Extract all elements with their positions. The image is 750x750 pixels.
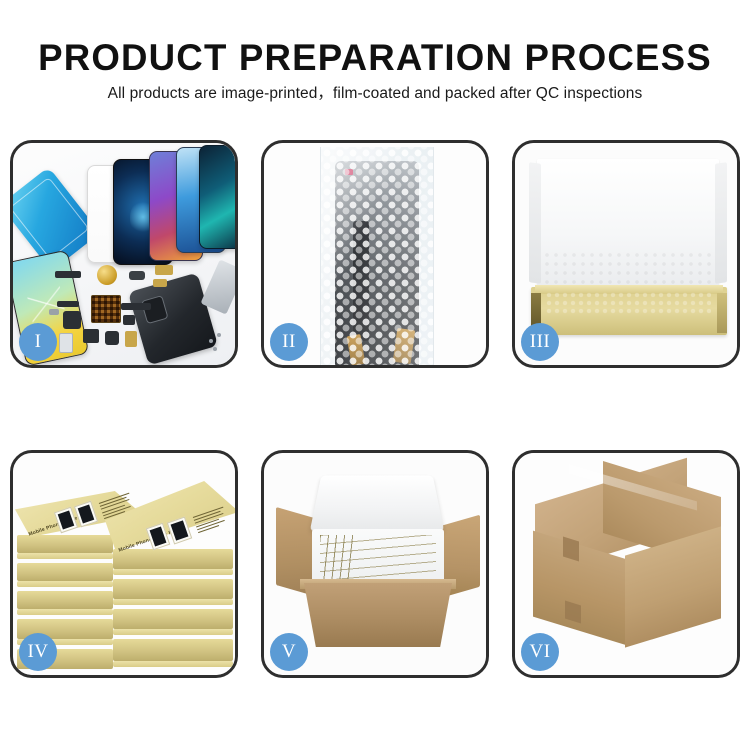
stacked-box (113, 661, 233, 667)
spare-part (83, 329, 99, 343)
stacked-box (113, 569, 233, 575)
step-badge-5: V (270, 633, 308, 671)
screw-part (213, 347, 217, 351)
carton-body (304, 583, 452, 647)
gold-connector-part (97, 265, 117, 285)
page-subtitle: All products are image-printed，film-coat… (0, 84, 750, 104)
stacked-box (17, 591, 113, 609)
stacked-box (113, 549, 233, 569)
step-panel-6: VI (512, 450, 740, 678)
spare-part (105, 331, 119, 345)
chip-grid-part (91, 295, 121, 323)
header: PRODUCT PREPARATION PROCESS All products… (0, 0, 750, 120)
stacked-box (113, 579, 233, 599)
step-badge-3: III (521, 323, 559, 361)
product-preparation-infographic: PRODUCT PREPARATION PROCESS All products… (0, 0, 750, 750)
stacked-box (17, 581, 113, 587)
spare-part (125, 331, 137, 347)
spare-part (55, 271, 81, 278)
screw-part (217, 333, 221, 337)
step-badge-1: I (19, 323, 57, 361)
screw-part (209, 339, 213, 343)
spare-part (155, 265, 173, 275)
spare-part (57, 301, 79, 307)
stacked-box (113, 599, 233, 605)
page-title: PRODUCT PREPARATION PROCESS (4, 38, 747, 78)
stacked-box (113, 609, 233, 629)
bubble-wrap-package (320, 147, 434, 365)
stacked-box (17, 535, 113, 553)
stacked-box (17, 563, 113, 581)
step-panel-2: II (261, 140, 489, 368)
step-badge-2: II (270, 323, 308, 361)
stacked-box (17, 609, 113, 615)
step-badge-6: VI (521, 633, 559, 671)
teal-phone-screen (199, 145, 235, 249)
tray-end-right (717, 293, 727, 333)
step-panel-5: V (261, 450, 489, 678)
spare-part (129, 271, 145, 280)
spare-part (63, 311, 81, 329)
spare-part (123, 315, 135, 325)
spare-part (49, 309, 59, 315)
step-panel-1: I (10, 140, 238, 368)
stacked-box (113, 639, 233, 661)
spare-part (153, 279, 167, 287)
step-panel-3: III (512, 140, 740, 368)
dark-foam-padding (545, 291, 711, 315)
steps-grid: I II (10, 140, 740, 680)
stacked-box (17, 553, 113, 559)
plastic-sheen (321, 147, 433, 365)
step-badge-4: IV (19, 633, 57, 671)
step-panel-4: Mobile Phone Spare Parts Mobile Phone Sp… (10, 450, 238, 678)
stacked-box (113, 629, 233, 635)
spare-part (59, 333, 73, 353)
foam-lid (310, 476, 445, 532)
spare-part (121, 303, 151, 310)
